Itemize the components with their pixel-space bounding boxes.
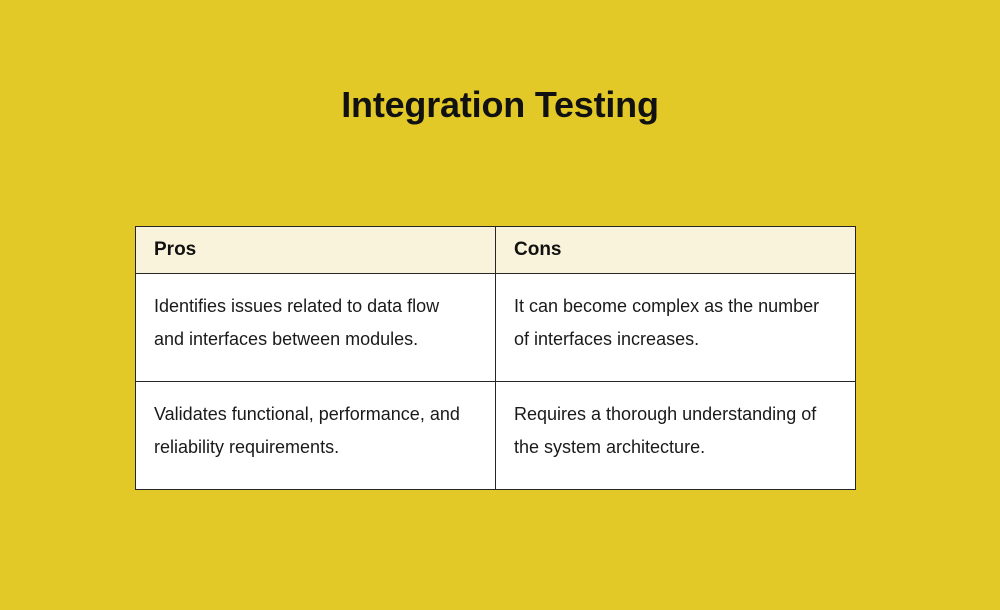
cell-text: Validates functional, performance, and r… [154, 398, 473, 464]
column-header-cons: Cons [496, 227, 856, 274]
cell-text: Identifies issues related to data flow a… [154, 290, 473, 356]
table-header-row: Pros Cons [136, 227, 856, 274]
pros-cons-table: Pros Cons Identifies issues related to d… [135, 226, 856, 490]
column-header-pros: Pros [136, 227, 496, 274]
table-row: Identifies issues related to data flow a… [136, 274, 856, 382]
cell-text: Requires a thorough understanding of the… [514, 398, 833, 464]
cell-cons-1: It can become complex as the number of i… [496, 274, 856, 382]
cell-text: It can become complex as the number of i… [514, 290, 833, 356]
table-row: Validates functional, performance, and r… [136, 382, 856, 490]
table-header: Pros Cons [136, 227, 856, 274]
cell-pros-1: Identifies issues related to data flow a… [136, 274, 496, 382]
table-body: Identifies issues related to data flow a… [136, 274, 856, 490]
slide-canvas: Integration Testing Pros Cons Identifies… [0, 0, 1000, 610]
page-title: Integration Testing [0, 82, 1000, 128]
pros-cons-table-container: Pros Cons Identifies issues related to d… [135, 226, 855, 490]
cell-cons-2: Requires a thorough understanding of the… [496, 382, 856, 490]
cell-pros-2: Validates functional, performance, and r… [136, 382, 496, 490]
